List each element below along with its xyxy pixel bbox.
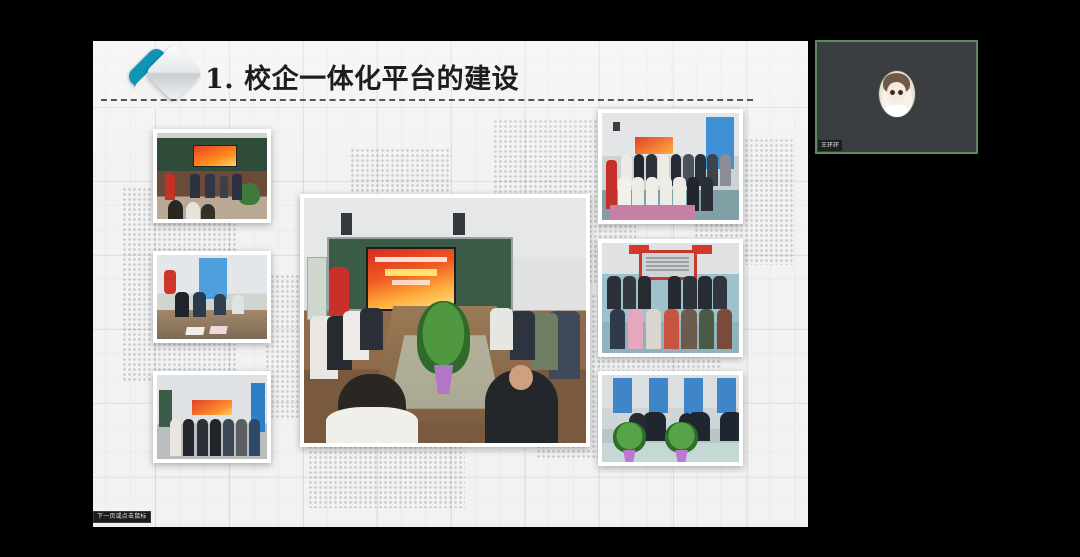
shared-screen-slide[interactable]: 1. 校企一体化平台的建设 <box>93 41 808 527</box>
participant-name-label: 王环环 <box>818 140 842 151</box>
chevron-diamond-logo <box>133 47 201 105</box>
photo-group-standing-banner <box>153 371 271 463</box>
photo-class-group-portrait <box>598 109 743 224</box>
slide-header: 1. 校企一体化平台的建设 <box>93 41 808 111</box>
participant-video-tile[interactable]: 王环环 <box>815 40 978 154</box>
photo-conference-applause <box>300 194 590 447</box>
slide-hint-chip: 下一页或点击鼠标 <box>93 511 151 523</box>
participant-avatar <box>879 71 915 117</box>
slide-title: 1. 校企一体化平台的建设 <box>205 57 519 96</box>
meeting-window: 1. 校企一体化平台的建设 <box>0 0 1080 557</box>
photo-award-ceremony-classroom <box>153 129 271 223</box>
photo-plaque-unveiling <box>598 239 743 357</box>
avatar-body <box>885 105 908 117</box>
header-divider <box>101 99 753 101</box>
photo-office-meeting-plants <box>598 371 743 466</box>
photo-roundtable-meeting <box>153 251 271 343</box>
